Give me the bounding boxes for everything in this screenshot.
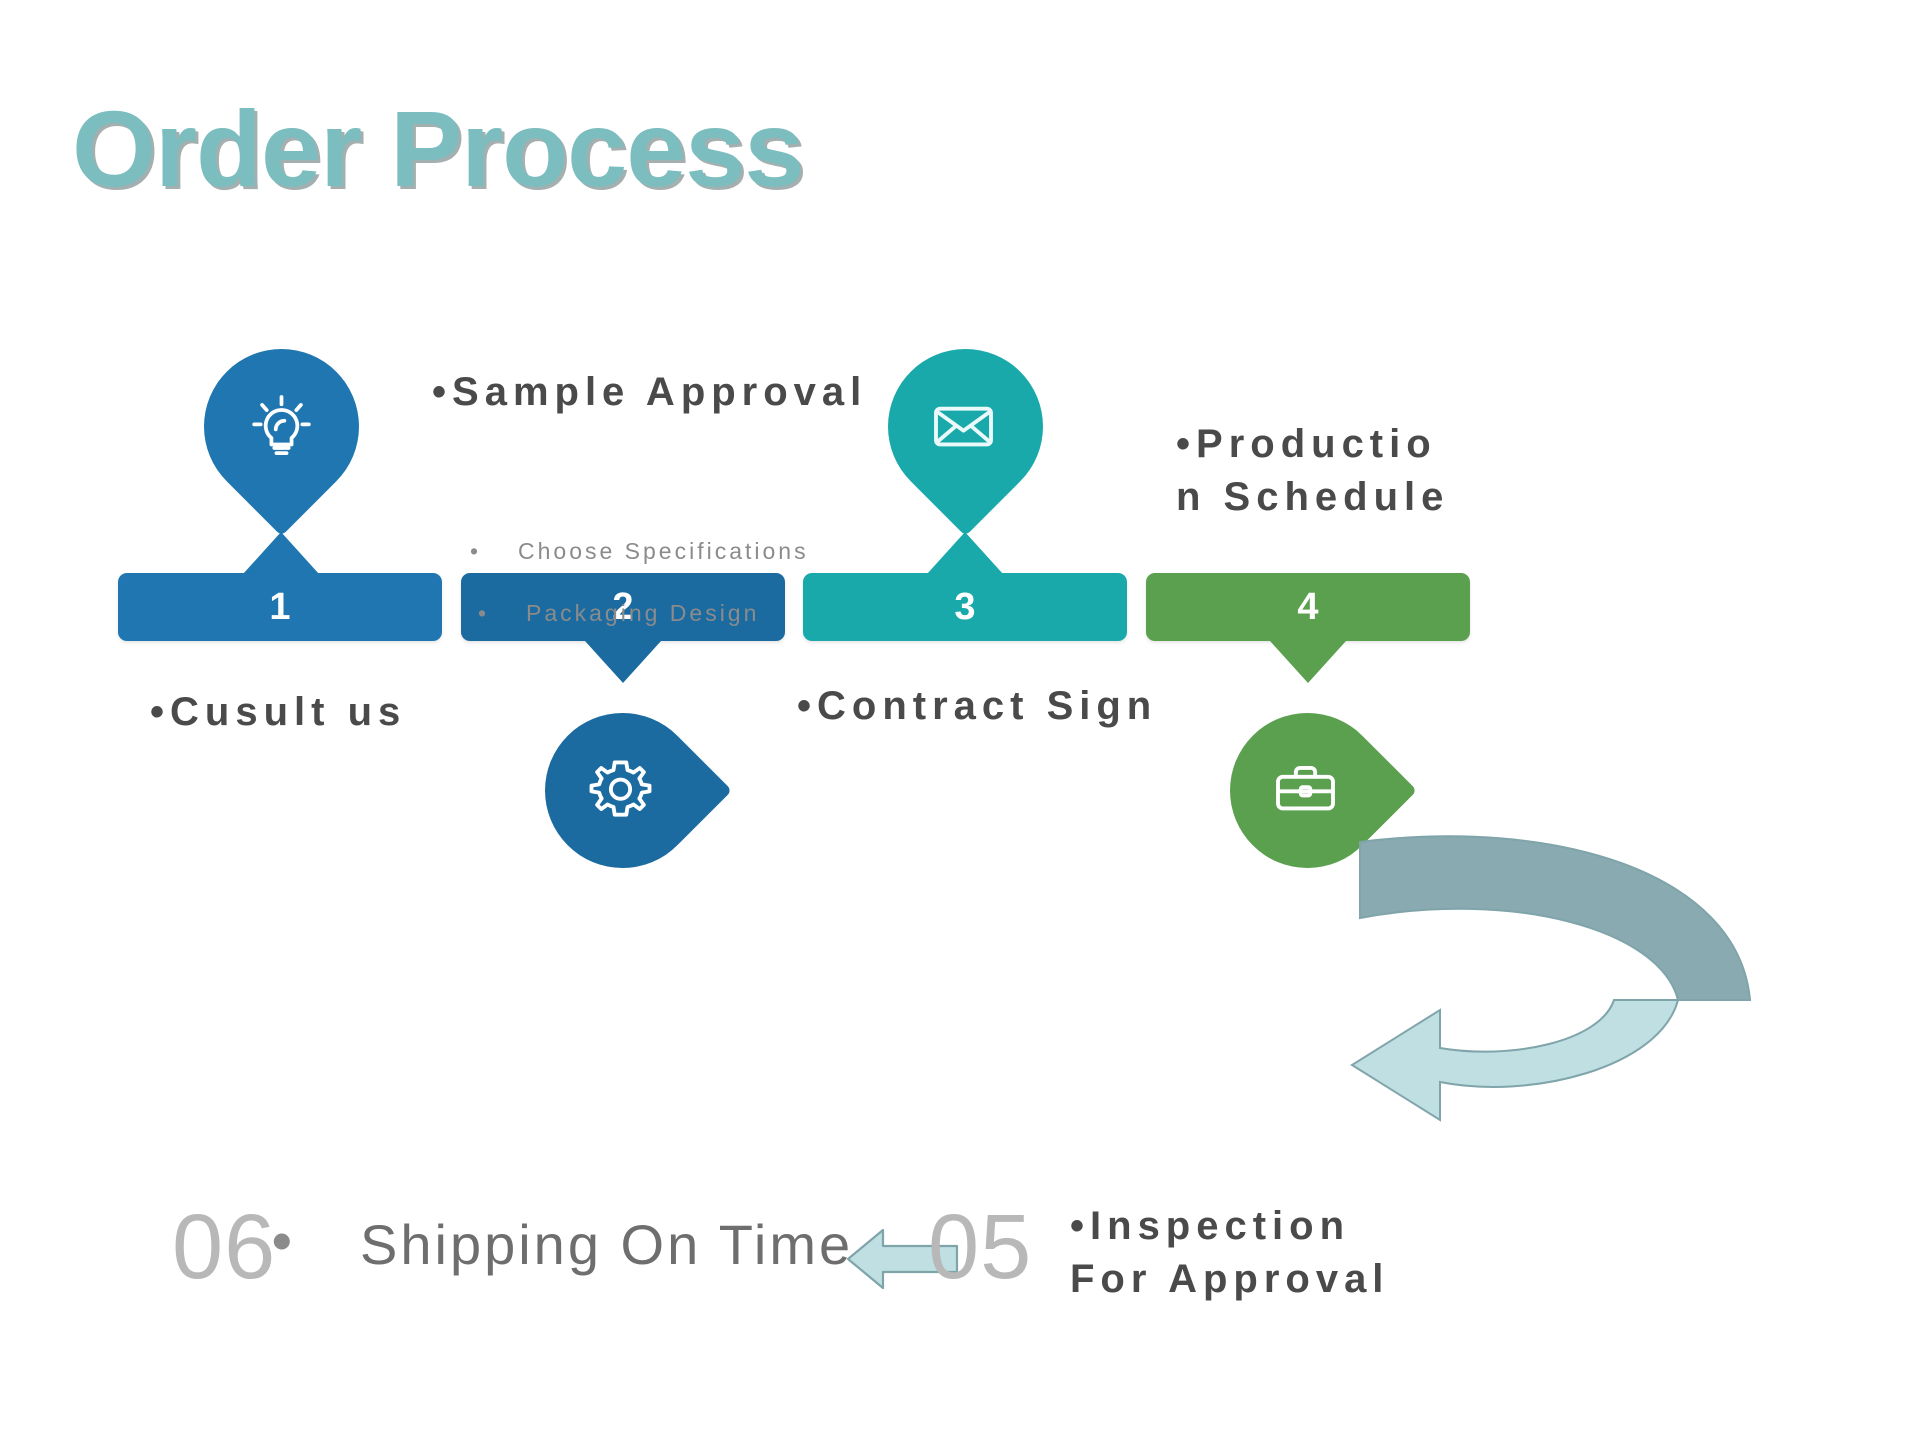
gear-icon	[577, 745, 669, 837]
step-6-label: Shipping On Time	[360, 1212, 853, 1277]
pin-shape-2	[513, 681, 732, 900]
step-4-label-line1: Productio	[1196, 422, 1437, 466]
step-4-bar[interactable]: 4	[1146, 573, 1470, 641]
step-3-bar[interactable]: 3	[803, 573, 1127, 641]
step-6-number: 06	[172, 1195, 276, 1300]
step-5-label-line2: For Approval	[1070, 1257, 1389, 1301]
lightbulb-icon	[236, 381, 328, 473]
step-4-label: •Production Schedule	[1176, 418, 1466, 524]
step-4-bullet: •	[1176, 422, 1196, 466]
slide-canvas: Order Process 1 •Cusult	[0, 0, 1920, 1440]
curved-arrow-icon	[1330, 820, 1920, 1140]
step-1-bullet: •	[150, 690, 170, 734]
step-1-notch	[243, 532, 319, 574]
step-3-notch	[927, 532, 1003, 574]
step-2-subitem-2: •Packaging Design	[478, 600, 759, 627]
pin-shape-1	[172, 317, 391, 536]
step-2-subitem-2-text: Packaging Design	[526, 600, 759, 626]
step-3-number: 3	[954, 586, 975, 629]
step-3-label: •Contract Sign	[797, 680, 1297, 733]
step-4-label-line2: n Schedule	[1176, 475, 1449, 519]
step-2-label: •Sample Approval	[432, 366, 892, 419]
step-1-bar[interactable]: 1	[118, 573, 442, 641]
step-2-subitem-1-bullet: •	[470, 538, 518, 565]
step-4-notch	[1270, 641, 1346, 683]
step-2-notch	[585, 641, 661, 683]
step-3-bullet: •	[797, 684, 817, 728]
step-1-label: •Cusult us	[150, 686, 550, 739]
step-5-label-line1: Inspection	[1090, 1204, 1350, 1248]
step-2-subitem-1: •Choose Specifications	[470, 538, 809, 565]
step-1-pin	[204, 349, 359, 504]
step-2-subitem-2-bullet: •	[478, 600, 526, 627]
step-5-number: 05	[928, 1195, 1032, 1300]
step-6-bullet: •	[272, 1208, 292, 1273]
step-2-subitem-1-text: Choose Specifications	[518, 538, 809, 564]
step-3-label-text: Contract Sign	[817, 684, 1157, 728]
step-5-bullet: •	[1070, 1204, 1090, 1248]
step-5-label: •InspectionFor Approval	[1070, 1200, 1490, 1306]
step-4-number: 4	[1297, 586, 1318, 629]
step-1-label-text: Cusult us	[170, 690, 406, 734]
step-2-bullet: •	[432, 370, 452, 414]
page-title: Order Process	[72, 86, 803, 211]
step-3-pin	[888, 349, 1043, 504]
step-2-label-text: Sample Approval	[452, 370, 867, 414]
pin-shape-3	[856, 317, 1075, 536]
step-2-pin	[545, 713, 700, 868]
step-1-number: 1	[269, 586, 290, 629]
envelope-icon	[920, 381, 1012, 473]
